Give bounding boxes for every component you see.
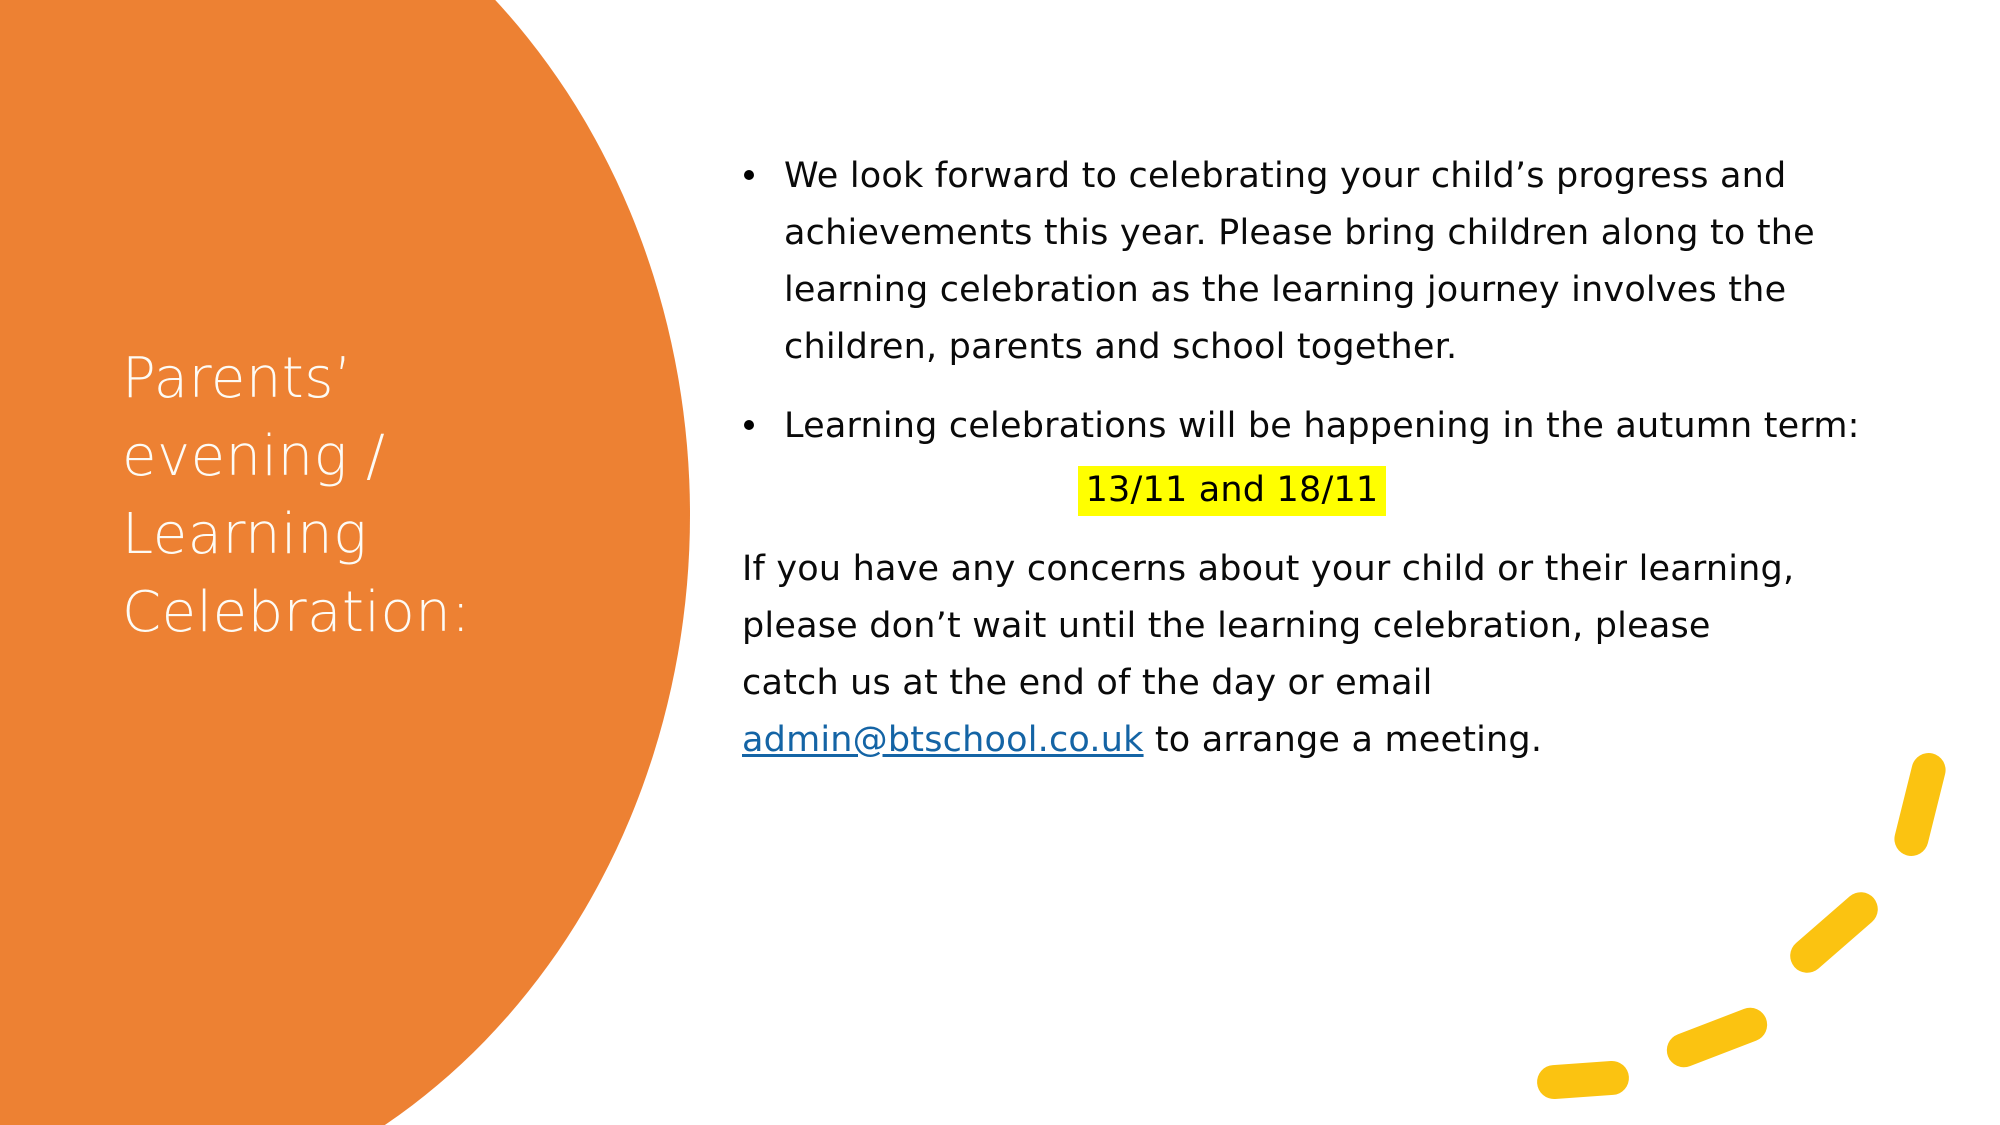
title-line-3: Learning [122, 496, 552, 574]
bullet-dot-icon [744, 420, 754, 430]
list-item: Learning celebrations will be happening … [742, 398, 1892, 455]
highlighted-dates: 13/11 and 18/11 [1078, 466, 1387, 516]
title-line-1: Parents’ [122, 340, 552, 418]
dates-row: 13/11 and 18/11 [742, 465, 1892, 515]
page-title: Parents’ evening / Learning Celebration: [122, 340, 552, 652]
email-link[interactable]: admin@btschool.co.uk [742, 720, 1144, 760]
title-line-4: Celebration: [122, 574, 552, 652]
paragraph-text-before-link: If you have any concerns about your chil… [742, 549, 1794, 703]
yellow-dash-icon-2 [1783, 885, 1885, 980]
list-item: We look forward to celebrating your chil… [742, 148, 1892, 376]
bullet-text: We look forward to celebrating your chil… [784, 156, 1815, 367]
title-line-2: evening / [122, 418, 552, 496]
content-body: We look forward to celebrating your chil… [742, 148, 1892, 769]
yellow-dash-icon-4 [1536, 1060, 1630, 1100]
closing-paragraph: If you have any concerns about your chil… [742, 541, 1812, 769]
bullet-list: We look forward to celebrating your chil… [742, 148, 1892, 455]
yellow-dash-icon-1 [1891, 749, 1949, 859]
yellow-dash-icon-3 [1662, 1003, 1772, 1072]
slide-canvas: Parents’ evening / Learning Celebration:… [0, 0, 2000, 1125]
bullet-dot-icon [744, 170, 754, 180]
bullet-text: Learning celebrations will be happening … [784, 406, 1860, 446]
paragraph-text-after-link: to arrange a meeting. [1144, 720, 1543, 760]
